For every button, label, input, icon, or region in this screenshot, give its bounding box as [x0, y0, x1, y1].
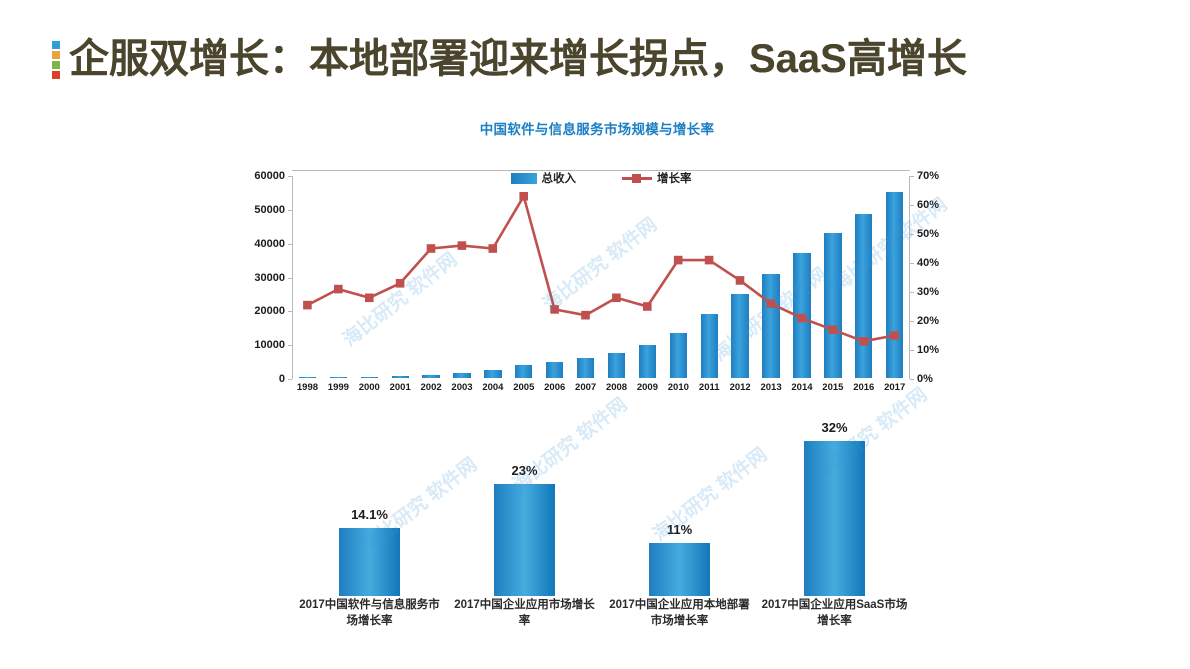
segment-bars: 14.1%23%11%32% — [292, 398, 912, 596]
accent-marks-icon — [52, 41, 60, 79]
x-axis-label: 2002 — [416, 382, 447, 393]
y-axis-label-left: 20000 — [254, 305, 285, 317]
segment-bar-column: 14.1% — [292, 398, 447, 596]
y-axis-label-right: 20% — [917, 315, 939, 327]
y-axis-label-right: 30% — [917, 286, 939, 298]
slide-title-row: 企服双增长：本地部署迎来增长拐点，SaaS高增长 — [52, 38, 967, 80]
segment-bar-value: 32% — [821, 420, 847, 435]
x-axis-labels: 1998199920002001200220032004200520062007… — [292, 382, 910, 393]
y-axis-label-right: 60% — [917, 199, 939, 211]
x-axis-label: 2005 — [508, 382, 539, 393]
segment-bar-category: 2017中国企业应用市场增长率 — [447, 598, 602, 629]
segment-bar-category: 2017中国软件与信息服务市场增长率 — [292, 598, 447, 629]
y-axis-label-left: 40000 — [254, 238, 285, 250]
segment-bar-category: 2017中国企业应用SaaS市场增长率 — [757, 598, 912, 629]
x-axis-label: 2004 — [477, 382, 508, 393]
segment-bar-value: 11% — [667, 522, 692, 537]
segment-bar-category: 2017中国企业应用本地部署市场增长率 — [602, 598, 757, 629]
x-axis-label: 1998 — [292, 382, 323, 393]
y-axis-label-right: 0% — [917, 373, 933, 385]
x-axis-label: 2015 — [817, 382, 848, 393]
segment-bar — [494, 484, 554, 596]
x-axis-label: 2009 — [632, 382, 663, 393]
segment-bar-column: 32% — [757, 398, 912, 596]
segment-bar-labels: 2017中国软件与信息服务市场增长率2017中国企业应用市场增长率2017中国企… — [292, 598, 912, 629]
x-axis-label: 2014 — [787, 382, 818, 393]
y-axis-label-left: 0 — [279, 373, 285, 385]
x-axis-label: 2003 — [447, 382, 478, 393]
x-axis-label: 2008 — [601, 382, 632, 393]
y-axis-label-left: 50000 — [254, 204, 285, 216]
y-axis-label-left: 30000 — [254, 272, 285, 284]
x-axis-label: 2000 — [354, 382, 385, 393]
slide-root: 企服双增长：本地部署迎来增长拐点，SaaS高增长 中国软件与信息服务市场规模与增… — [0, 0, 1190, 669]
chart-plot-area: 0100002000030000400005000060000 0%10%20%… — [292, 170, 910, 379]
y-axis-label-right: 50% — [917, 228, 939, 240]
x-axis-label: 2016 — [848, 382, 879, 393]
chart-title: 中国软件与信息服务市场规模与增长率 — [224, 118, 970, 138]
page-title: 企服双增长：本地部署迎来增长拐点，SaaS高增长 — [69, 38, 967, 80]
segment-bar — [339, 528, 399, 596]
segment-bar-value: 14.1% — [351, 507, 388, 522]
segment-bar-column: 23% — [447, 398, 602, 596]
x-axis-label: 2013 — [756, 382, 787, 393]
y-axis-label-right: 40% — [917, 257, 939, 269]
x-axis-label: 2017 — [879, 382, 910, 393]
segment-bar — [804, 441, 864, 596]
y-axis-label-left: 10000 — [254, 339, 285, 351]
x-axis-label: 2006 — [539, 382, 570, 393]
y-axis-label-left: 60000 — [254, 170, 285, 182]
market-size-growth-chart: 中国软件与信息服务市场规模与增长率 0100002000030000400005… — [230, 118, 970, 393]
x-axis-label: 1999 — [323, 382, 354, 393]
x-axis-label: 2001 — [385, 382, 416, 393]
x-axis-label: 2011 — [694, 382, 725, 393]
x-axis-label: 2007 — [570, 382, 601, 393]
segment-bar — [649, 543, 709, 596]
y-axis-label-right: 70% — [917, 170, 939, 182]
segment-bar-column: 11% — [602, 398, 757, 596]
segment-bar-value: 23% — [511, 463, 537, 478]
growth-rate-line — [292, 170, 910, 379]
y-axis-label-right: 10% — [917, 344, 939, 356]
x-axis-label: 2010 — [663, 382, 694, 393]
x-axis-label: 2012 — [725, 382, 756, 393]
segment-growth-chart: 14.1%23%11%32% 2017中国软件与信息服务市场增长率2017中国企… — [292, 398, 912, 648]
